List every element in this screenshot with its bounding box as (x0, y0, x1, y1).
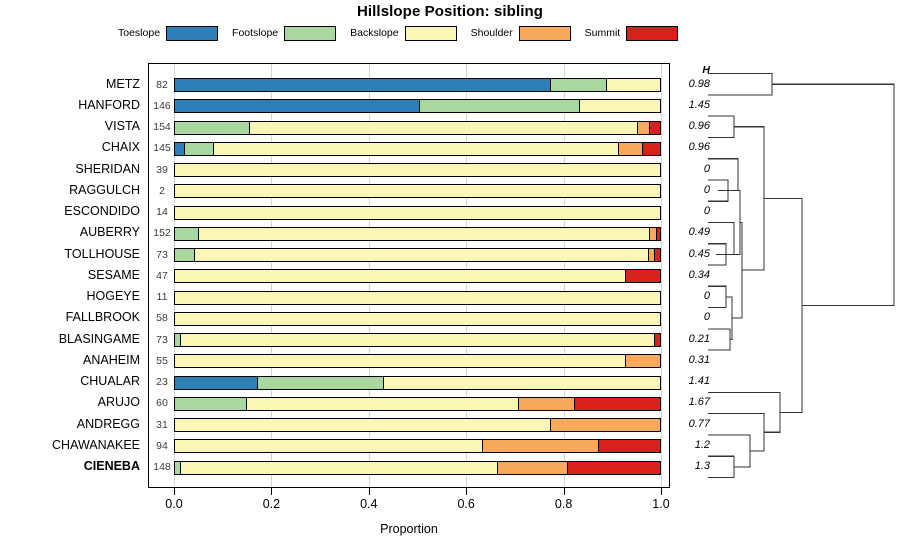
row-n-value: 94 (151, 436, 173, 457)
category-label-metz[interactable]: METZ (106, 74, 140, 95)
plot-panel: 8214615414539214152734711587355236031941… (148, 63, 670, 488)
dendro-link-sesame-cluster (708, 222, 734, 254)
bar-segment-backslope[interactable] (607, 79, 660, 91)
row-n-value: 148 (151, 457, 173, 478)
bar-segment-backslope[interactable] (384, 377, 660, 389)
legend-entry[interactable]: Backslope (350, 26, 456, 41)
stacked-bar[interactable] (174, 312, 661, 326)
bar-segment-shoulder[interactable] (551, 419, 660, 431)
bar-segment-shoulder[interactable] (638, 122, 650, 134)
stacked-bar[interactable] (174, 142, 661, 156)
bar-segment-footslope[interactable] (175, 249, 195, 261)
category-label-anaheim[interactable]: ANAHEIM (83, 350, 140, 371)
category-label-chualar[interactable]: CHUALAR (80, 371, 140, 392)
bar-segment-backslope[interactable] (175, 440, 483, 452)
bar-segment-summit[interactable] (655, 249, 660, 261)
bar-segment-toeslope[interactable] (175, 143, 185, 155)
legend-label: Summit (585, 27, 621, 39)
dendro-link-root (772, 84, 894, 305)
x-tick-mark (369, 488, 370, 495)
row-n-value: 47 (151, 266, 173, 287)
bar-segment-backslope[interactable] (175, 185, 660, 197)
stacked-bar[interactable] (174, 99, 661, 113)
category-label-tollhouse[interactable]: TOLLHOUSE (65, 244, 141, 265)
category-label-cieneba[interactable]: CIENEBA (84, 456, 140, 477)
bar-segment-backslope[interactable] (181, 334, 655, 346)
bar-row[interactable]: 82 (149, 75, 669, 96)
x-tick-label: 1.0 (641, 497, 681, 511)
bar-segment-backslope[interactable] (175, 292, 660, 304)
x-tick-mark (174, 488, 175, 495)
bar-row[interactable]: 152 (149, 223, 669, 244)
bar-row[interactable]: 31 (149, 415, 669, 436)
category-label-auberry[interactable]: AUBERRY (80, 222, 140, 243)
bar-segment-shoulder[interactable] (619, 143, 643, 155)
bar-segment-summit[interactable] (657, 228, 660, 240)
category-label-fallbrook[interactable]: FALLBROOK (66, 307, 140, 328)
category-label-sesame[interactable]: SESAME (88, 265, 140, 286)
dendro-link-hogeye-fallbrook (708, 286, 726, 307)
bar-segment-backslope[interactable] (175, 164, 660, 176)
dendro-link-arujo-cluster (708, 414, 764, 451)
bar-segment-summit[interactable] (575, 398, 660, 410)
category-axis-labels: METZHANFORDVISTACHAIXSHERIDANRAGGULCHESC… (0, 63, 144, 488)
bar-segment-summit[interactable] (599, 440, 660, 452)
stacked-bar[interactable] (174, 354, 661, 368)
bar-segment-footslope[interactable] (185, 143, 214, 155)
row-n-value: 146 (151, 96, 173, 117)
legend-entry[interactable]: Footslope (232, 26, 336, 41)
bar-row[interactable]: 148 (149, 457, 669, 478)
bar-row[interactable]: 11 (149, 287, 669, 308)
legend-swatch-icon (626, 26, 678, 41)
bar-segment-summit[interactable] (626, 270, 660, 282)
bar-segment-backslope[interactable] (580, 100, 660, 112)
row-n-value: 23 (151, 372, 173, 393)
row-n-value: 73 (151, 330, 173, 351)
bar-segment-summit[interactable] (655, 334, 660, 346)
bar-segment-backslope[interactable] (250, 122, 638, 134)
legend-entry[interactable]: Shoulder (471, 26, 571, 41)
legend-label: Footslope (232, 27, 278, 39)
x-tick-mark (564, 488, 565, 495)
bar-segment-footslope[interactable] (551, 79, 607, 91)
legend-entry[interactable]: Summit (585, 26, 679, 41)
bar-row[interactable]: 55 (149, 351, 669, 372)
bar-row[interactable]: 73 (149, 330, 669, 351)
dendro-link-metz-hanford (708, 74, 772, 95)
page-title: Hillslope Position: sibling (0, 3, 900, 20)
bar-row[interactable]: 60 (149, 393, 669, 414)
bar-row[interactable]: 154 (149, 117, 669, 138)
bar-segment-backslope[interactable] (175, 270, 626, 282)
bar-row[interactable]: 94 (149, 436, 669, 457)
bar-segment-shoulder[interactable] (483, 440, 599, 452)
bar-segment-summit[interactable] (568, 462, 660, 474)
dendrogram-svg (706, 63, 898, 488)
bar-segment-backslope[interactable] (181, 462, 498, 474)
stacked-bar[interactable] (174, 248, 661, 262)
bar-segment-backslope[interactable] (175, 355, 626, 367)
stacked-bar[interactable] (174, 291, 661, 305)
category-label-hogeye[interactable]: HOGEYE (87, 286, 141, 307)
dendro-link-chawanakee-cieneba (708, 456, 734, 477)
stacked-bar[interactable] (174, 227, 661, 241)
plot-area: 8214615414539214152734711587355236031941… (149, 64, 669, 487)
category-label-arujo[interactable]: ARUJO (98, 392, 140, 413)
bar-rows: 8214615414539214152734711587355236031941… (149, 64, 669, 487)
x-tick-label: 0.8 (544, 497, 584, 511)
x-tick-label: 0.6 (446, 497, 486, 511)
legend-label: Toeslope (118, 27, 160, 39)
dendro-link-b-rest (734, 127, 764, 270)
legend-label: Shoulder (471, 27, 513, 39)
stacked-bar[interactable] (174, 269, 661, 283)
bar-segment-backslope[interactable] (175, 419, 551, 431)
category-label-chawanakee[interactable]: CHAWANAKEE (52, 435, 140, 456)
bar-segment-summit[interactable] (643, 143, 660, 155)
dendro-link-chualar-cluster (708, 392, 780, 432)
row-n-value: 14 (151, 202, 173, 223)
bar-segment-shoulder[interactable] (519, 398, 575, 410)
bar-row[interactable]: 14 (149, 202, 669, 223)
bar-segment-footslope[interactable] (258, 377, 383, 389)
bar-segment-backslope[interactable] (195, 249, 648, 261)
bar-segment-footslope[interactable] (175, 228, 199, 240)
x-tick-mark (661, 488, 662, 495)
dendro-link-blasingame-anaheim (708, 329, 730, 350)
x-axis-title: Proportion (148, 522, 670, 536)
stacked-bar[interactable] (174, 121, 661, 135)
bar-segment-summit[interactable] (650, 122, 660, 134)
bar-segment-toeslope[interactable] (175, 377, 258, 389)
bar-row[interactable]: 58 (149, 308, 669, 329)
row-n-value: 55 (151, 351, 173, 372)
category-label-blasingame[interactable]: BLASINGAME (59, 329, 140, 350)
bar-segment-shoulder[interactable] (498, 462, 568, 474)
stacked-bar[interactable] (174, 418, 661, 432)
legend-swatch-icon (166, 26, 218, 41)
legend: ToeslopeFootslopeBackslopeShoulderSummit (118, 24, 718, 42)
row-n-value: 73 (151, 245, 173, 266)
dendro-link-sheridan-cluster (708, 159, 738, 191)
row-n-value: 60 (151, 393, 173, 414)
bar-row[interactable]: 146 (149, 96, 669, 117)
row-n-value: 2 (151, 181, 173, 202)
dendro-link-upper-lower (764, 198, 802, 412)
category-label-sheridan[interactable]: SHERIDAN (75, 159, 140, 180)
bar-row[interactable]: 73 (149, 245, 669, 266)
legend-label: Backslope (350, 27, 398, 39)
x-tick-mark (466, 488, 467, 495)
row-n-value: 11 (151, 287, 173, 308)
bar-segment-footslope[interactable] (175, 122, 250, 134)
legend-swatch-icon (405, 26, 457, 41)
category-label-raggulch[interactable]: RAGGULCH (69, 180, 140, 201)
bar-row[interactable]: 2 (149, 181, 669, 202)
legend-swatch-icon (519, 26, 571, 41)
category-label-vista[interactable]: VISTA (105, 116, 140, 137)
bar-row[interactable]: 39 (149, 160, 669, 181)
bar-segment-footslope[interactable] (420, 100, 580, 112)
bar-segment-footslope[interactable] (175, 398, 247, 410)
legend-entry[interactable]: Toeslope (118, 26, 218, 41)
stacked-bar[interactable] (174, 439, 661, 453)
stacked-bar[interactable] (174, 397, 661, 411)
bar-segment-toeslope[interactable] (175, 100, 420, 112)
category-label-escondido[interactable]: ESCONDIDO (64, 201, 140, 222)
category-label-andregg[interactable]: ANDREGG (77, 414, 140, 435)
stacked-bar[interactable] (174, 163, 661, 177)
dendro-link-c-e (734, 191, 740, 255)
x-tick-label: 0.0 (154, 497, 194, 511)
bar-segment-backslope[interactable] (175, 207, 660, 219)
x-tick-label: 0.2 (251, 497, 291, 511)
stacked-bar[interactable] (174, 206, 661, 220)
bar-segment-backslope[interactable] (175, 313, 660, 325)
bar-segment-shoulder[interactable] (626, 355, 660, 367)
bar-row[interactable]: 145 (149, 138, 669, 159)
category-label-hanford[interactable]: HANFORD (78, 95, 140, 116)
dendro-link-andregg-cluster (708, 435, 750, 467)
bar-row[interactable]: 47 (149, 266, 669, 287)
bar-segment-backslope[interactable] (214, 143, 619, 155)
dendro-link-vista-chaix (708, 116, 734, 137)
bar-segment-backslope[interactable] (199, 228, 650, 240)
x-tick-label: 0.4 (349, 497, 389, 511)
stacked-bar[interactable] (174, 333, 661, 347)
row-n-value: 152 (151, 223, 173, 244)
row-n-value: 154 (151, 117, 173, 138)
bar-row[interactable]: 23 (149, 372, 669, 393)
row-n-value: 39 (151, 160, 173, 181)
category-label-chaix[interactable]: CHAIX (102, 137, 140, 158)
stacked-bar[interactable] (174, 376, 661, 390)
bar-segment-backslope[interactable] (247, 398, 520, 410)
stacked-bar[interactable] (174, 184, 661, 198)
row-n-value: 58 (151, 308, 173, 329)
legend-swatch-icon (284, 26, 336, 41)
bar-segment-toeslope[interactable] (175, 79, 551, 91)
row-n-value: 82 (151, 75, 173, 96)
dendro-link-f-g (726, 297, 732, 340)
row-n-value: 31 (151, 415, 173, 436)
stacked-bar[interactable] (174, 461, 661, 475)
x-tick-mark (271, 488, 272, 495)
chart-root: Hillslope Position: sibling ToeslopeFoot… (0, 0, 900, 560)
stacked-bar[interactable] (174, 78, 661, 92)
row-n-value: 145 (151, 138, 173, 159)
dendrogram (706, 63, 898, 488)
